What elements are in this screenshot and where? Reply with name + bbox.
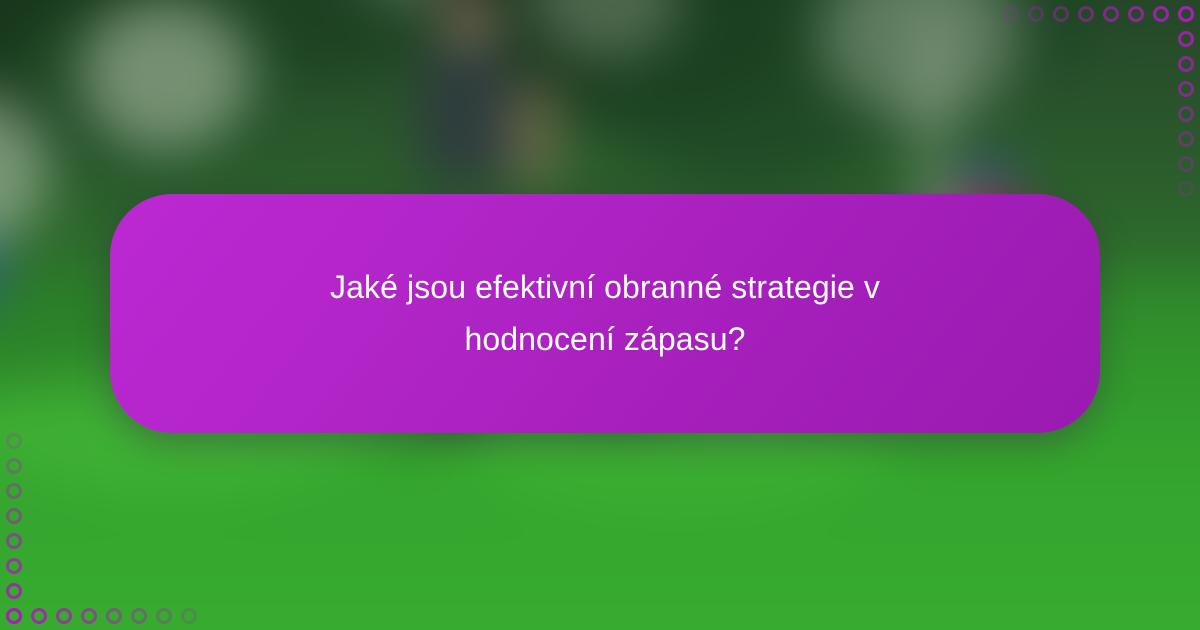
question-text: Jaké jsou efektivní obranné strategie v … bbox=[255, 262, 955, 366]
background-light-gap bbox=[80, 0, 250, 150]
player-arm bbox=[512, 80, 556, 190]
question-card: Jaké jsou efektivní obranné strategie v … bbox=[110, 194, 1100, 433]
player-torso bbox=[418, 38, 514, 188]
share-card-canvas: Jaké jsou efektivní obranné strategie v … bbox=[0, 0, 1200, 630]
